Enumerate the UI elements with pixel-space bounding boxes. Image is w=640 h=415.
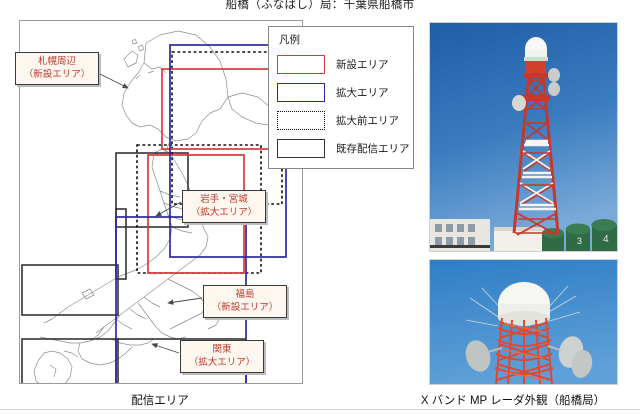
callout-iwate-line2: （拡大エリア） xyxy=(188,207,260,220)
legend-label-expanded-area: 拡大エリア xyxy=(336,85,389,100)
legend-swatch-new-area xyxy=(277,55,325,74)
legend: 凡例 新設エリア 拡大エリア 拡大前エリア 既存配信エリア xyxy=(268,26,414,169)
legend-label-pre-expansion-area: 拡大前エリア xyxy=(336,113,399,128)
legend-item-expanded-area: 拡大エリア xyxy=(277,78,407,106)
legend-swatch-expanded-area xyxy=(277,83,325,102)
callout-kanto-line2: （拡大エリア） xyxy=(186,357,258,370)
radar-tower-photo-full: 3 4 xyxy=(429,22,618,252)
callout-kanto: 関東 （拡大エリア） xyxy=(180,340,264,373)
svg-text:4: 4 xyxy=(603,234,609,245)
callout-kanto-line1: 関東 xyxy=(186,344,258,357)
caption-radar-appearance: X バンド MP レーダ外観（船橋局） xyxy=(398,392,628,408)
callout-sapporo: 札幌周辺 （新設エリア） xyxy=(15,52,99,85)
caption-distribution-area: 配信エリア xyxy=(19,392,301,408)
callout-fukushima: 福島 （新設エリア） xyxy=(203,285,287,318)
legend-item-existing-area: 既存配信エリア xyxy=(277,134,407,162)
callout-fukushima-line1: 福島 xyxy=(209,289,281,302)
radar-tower-full-illustration: 3 4 xyxy=(430,23,617,251)
legend-title: 凡例 xyxy=(279,32,407,47)
callout-sapporo-line1: 札幌周辺 xyxy=(21,56,93,69)
callout-sapporo-line2: （新設エリア） xyxy=(21,69,93,82)
legend-swatch-pre-expansion-area xyxy=(277,111,325,130)
radome xyxy=(498,282,550,326)
svg-text:3: 3 xyxy=(577,236,582,246)
callout-fukushima-line2: （新設エリア） xyxy=(209,302,281,315)
pre-expansion-rects-visible xyxy=(137,52,282,273)
radar-tower-photo-closeup xyxy=(429,259,618,385)
legend-swatch-existing-area xyxy=(277,139,325,158)
footer-divider xyxy=(0,409,640,410)
page-title: 船橋（ふなばし）局：千葉県船橋市 xyxy=(0,0,640,12)
callout-iwate-line1: 岩手・宮城 xyxy=(188,194,260,207)
legend-label-existing-area: 既存配信エリア xyxy=(336,141,410,156)
legend-item-pre-expansion-area: 拡大前エリア xyxy=(277,106,407,134)
radar-tower-closeup-illustration xyxy=(430,260,617,384)
legend-label-new-area: 新設エリア xyxy=(336,57,389,72)
callout-iwate-miyagi: 岩手・宮城 （拡大エリア） xyxy=(182,190,266,223)
legend-item-new-area: 新設エリア xyxy=(277,50,407,78)
